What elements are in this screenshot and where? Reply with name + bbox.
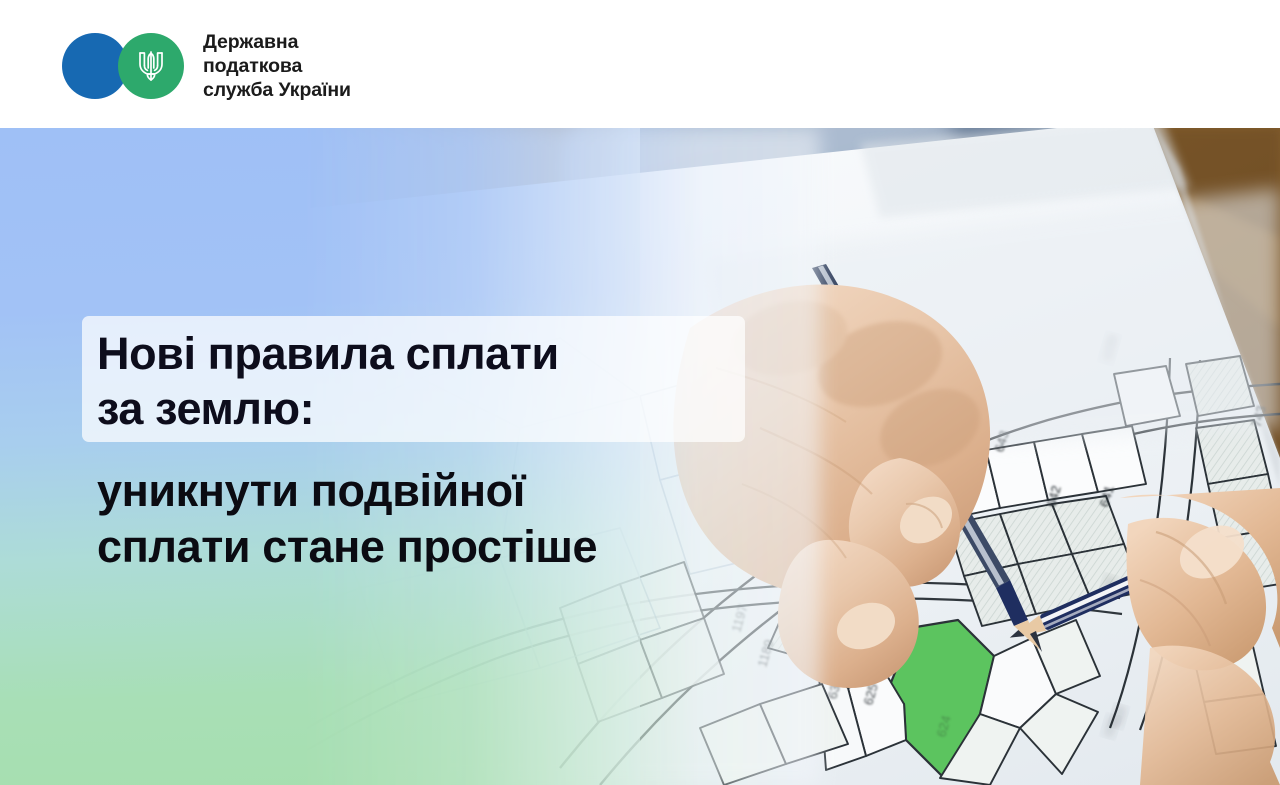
logo-marks [62,33,187,99]
cadastral-map-photo: 643 642 641 743 626 625 630 624 1189 119… [0,128,1280,785]
ukraine-trident-icon [118,33,184,99]
tax-service-logo[interactable]: Державна податкова служба України [62,30,351,102]
organization-name: Державна податкова служба України [203,30,351,102]
hero-media-area: 643 642 641 743 626 625 630 624 1189 119… [0,128,1280,785]
tax-service-banner: 643 642 641 743 626 625 630 624 1189 119… [0,0,1280,785]
site-header: Державна податкова служба України [0,0,1280,128]
